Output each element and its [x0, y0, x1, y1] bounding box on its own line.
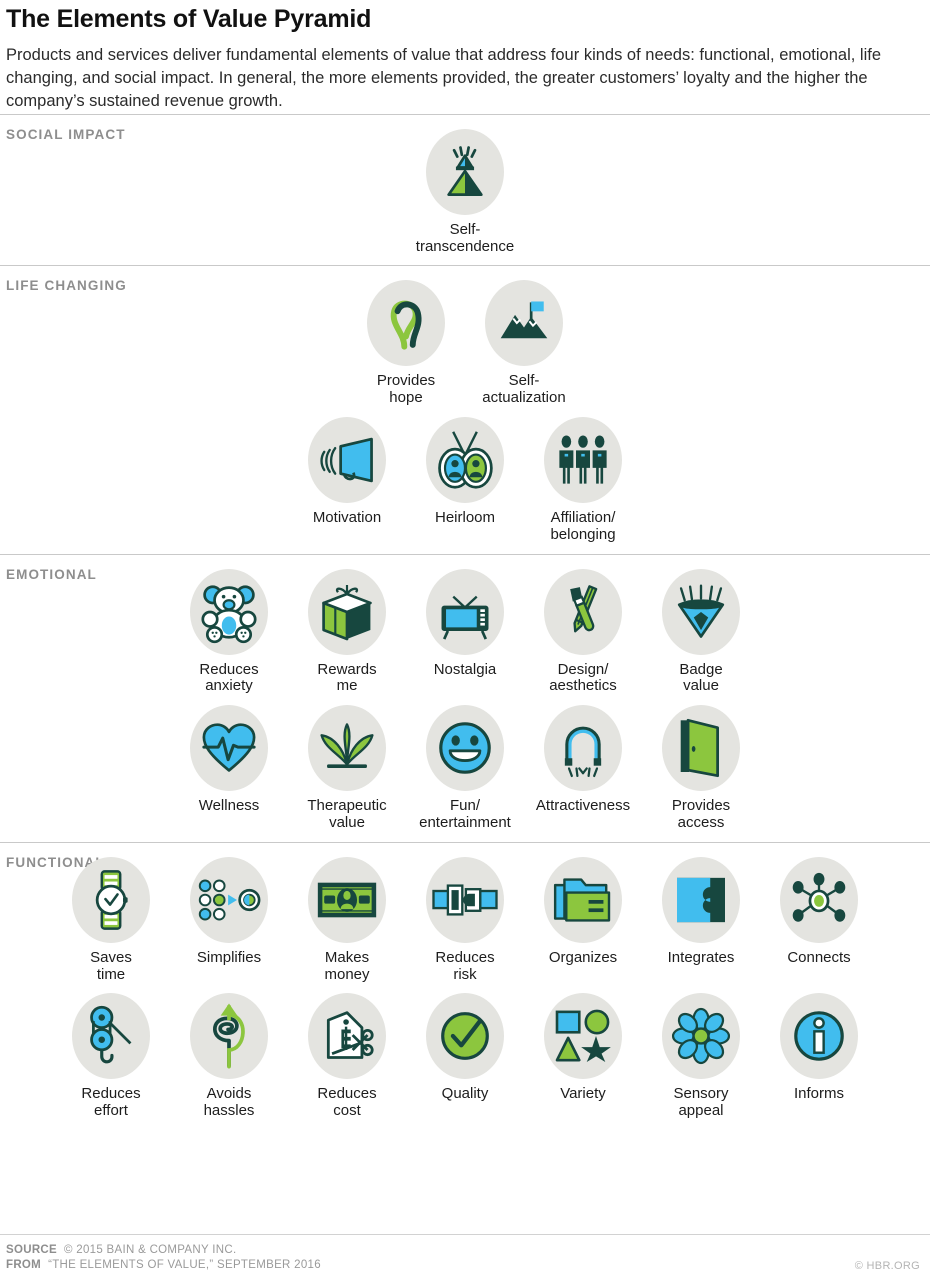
value-element-organizes[interactable]: Organizes	[524, 851, 642, 971]
folders-icon	[544, 857, 622, 943]
value-element-saves-time[interactable]: Saves time	[52, 851, 170, 988]
section-rows: Saves time Simplifies Makes money Reduce…	[0, 843, 930, 1130]
element-label: Provides hope	[377, 373, 435, 407]
section-rows: Self- transcendence	[0, 115, 930, 266]
section-functional: FUNCTIONAL Saves time Simplifies Makes m…	[0, 842, 930, 1130]
element-label: Affiliation/ belonging	[550, 510, 615, 544]
element-label: Nostalgia	[434, 662, 497, 679]
element-label: Self- transcendence	[416, 222, 514, 256]
value-element-avoids-hassles[interactable]: Avoids hassles	[170, 987, 288, 1124]
element-label: Reduces risk	[435, 950, 494, 984]
section-label: SOCIAL IMPACT	[6, 127, 126, 142]
element-label: Attractiveness	[536, 798, 630, 815]
people-group-icon	[544, 417, 622, 503]
value-element-informs[interactable]: Informs	[760, 987, 878, 1107]
element-label: Reduces cost	[317, 1086, 376, 1120]
footer-source-value: © 2015 BAIN & COMPANY INC.	[64, 1243, 236, 1259]
section-rows: Provides hope Self- actualization Motiva…	[0, 266, 930, 553]
badge-icon	[662, 569, 740, 655]
element-label: Self- actualization	[482, 373, 565, 407]
infographic-page: The Elements of Value Pyramid Products a…	[0, 0, 930, 1280]
element-label: Informs	[794, 1086, 844, 1103]
value-element-integrates[interactable]: Integrates	[642, 851, 760, 971]
value-element-provides-hope[interactable]: Provides hope	[347, 274, 465, 411]
value-element-reduces-effort[interactable]: Reduces effort	[52, 987, 170, 1124]
element-label: Badge value	[679, 662, 722, 696]
heart-pulse-icon	[190, 705, 268, 791]
puzzle-c-icon	[662, 857, 740, 943]
element-label: Reduces anxiety	[199, 662, 258, 696]
value-element-badge-value[interactable]: Badge value	[642, 563, 760, 700]
footer-from-value: “THE ELEMENTS OF VALUE,” SEPTEMBER 2016	[48, 1258, 321, 1274]
section-emotional: EMOTIONAL Reduces anxiety Rewards me Nos…	[0, 554, 930, 842]
footer: SOURCE © 2015 BAIN & COMPANY INC. FROM “…	[0, 1234, 930, 1274]
footer-from-line: FROM “THE ELEMENTS OF VALUE,” SEPTEMBER …	[6, 1258, 922, 1274]
value-element-quality[interactable]: Quality	[406, 987, 524, 1107]
element-row: Saves time Simplifies Makes money Reduce…	[0, 851, 930, 988]
element-label: Reduces effort	[81, 1086, 140, 1120]
element-label: Motivation	[313, 510, 381, 527]
element-row: Provides hope Self- actualization	[0, 274, 930, 411]
element-row: Self- transcendence	[0, 123, 930, 260]
check-circle-icon	[426, 993, 504, 1079]
element-label: Avoids hassles	[204, 1086, 255, 1120]
element-row: Reduces effort Avoids hassles Reduces co…	[0, 987, 930, 1124]
element-label: Makes money	[324, 950, 369, 984]
section-rows: Reduces anxiety Rewards me Nostalgia Des…	[0, 555, 930, 842]
element-label: Wellness	[199, 798, 260, 815]
seatbelt-icon	[426, 857, 504, 943]
element-label: Provides access	[672, 798, 730, 832]
element-row: Reduces anxiety Rewards me Nostalgia Des…	[0, 563, 930, 700]
teddy-bear-icon	[190, 569, 268, 655]
price-tag-scissors-icon	[308, 993, 386, 1079]
value-element-sensory-appeal[interactable]: Sensory appeal	[642, 987, 760, 1124]
footer-source-line: SOURCE © 2015 BAIN & COMPANY INC.	[6, 1243, 922, 1259]
retro-tv-icon	[426, 569, 504, 655]
element-label: Therapeutic value	[307, 798, 386, 832]
pyramid-icon	[426, 129, 504, 215]
megaphone-icon	[308, 417, 386, 503]
footer-from-key: FROM	[6, 1258, 41, 1274]
value-element-rewards-me[interactable]: Rewards me	[288, 563, 406, 700]
element-label: Connects	[787, 950, 850, 967]
value-element-variety[interactable]: Variety	[524, 987, 642, 1107]
open-door-icon	[662, 705, 740, 791]
tangle-arrow-icon	[190, 993, 268, 1079]
element-label: Saves time	[90, 950, 132, 984]
dots-to-circle-icon	[190, 857, 268, 943]
value-element-motivation[interactable]: Motivation	[288, 411, 406, 531]
footer-credit: © HBR.ORG	[855, 1260, 920, 1272]
value-element-design-aesthetics[interactable]: Design/ aesthetics	[524, 563, 642, 700]
element-row: Motivation Heirloom Affiliation/ belongi…	[0, 411, 930, 548]
flower-icon	[662, 993, 740, 1079]
element-label: Variety	[560, 1086, 606, 1103]
smiley-face-icon	[426, 705, 504, 791]
element-label: Sensory appeal	[673, 1086, 728, 1120]
info-circle-icon	[780, 993, 858, 1079]
value-element-reduces-cost[interactable]: Reduces cost	[288, 987, 406, 1124]
value-element-therapeutic-value[interactable]: Therapeutic value	[288, 699, 406, 836]
magnet-icon	[544, 705, 622, 791]
sections-container: SOCIAL IMPACT Self- transcendenceLIFE CH…	[0, 114, 930, 1130]
page-subtitle: Products and services deliver fundamenta…	[6, 44, 886, 114]
value-element-simplifies[interactable]: Simplifies	[170, 851, 288, 971]
page-title: The Elements of Value Pyramid	[6, 6, 920, 34]
value-element-makes-money[interactable]: Makes money	[288, 851, 406, 988]
value-element-self-actualization[interactable]: Self- actualization	[465, 274, 583, 411]
footer-source-key: SOURCE	[6, 1243, 57, 1259]
network-nodes-icon	[780, 857, 858, 943]
value-element-heirloom[interactable]: Heirloom	[406, 411, 524, 531]
value-element-affiliation-belonging[interactable]: Affiliation/ belonging	[524, 411, 642, 548]
element-label: Heirloom	[435, 510, 495, 527]
value-element-reduces-risk[interactable]: Reduces risk	[406, 851, 524, 988]
element-label: Organizes	[549, 950, 617, 967]
element-label: Integrates	[668, 950, 735, 967]
value-element-wellness[interactable]: Wellness	[170, 699, 288, 819]
section-label: EMOTIONAL	[6, 567, 97, 582]
value-element-nostalgia[interactable]: Nostalgia	[406, 563, 524, 683]
value-element-self-transcendence[interactable]: Self- transcendence	[406, 123, 524, 260]
gift-box-icon	[308, 569, 386, 655]
wristwatch-icon	[72, 857, 150, 943]
value-element-fun-entertainment[interactable]: Fun/ entertainment	[406, 699, 524, 836]
shapes-icon	[544, 993, 622, 1079]
pulley-hook-icon	[72, 993, 150, 1079]
value-element-connects[interactable]: Connects	[760, 851, 878, 971]
value-element-provides-access[interactable]: Provides access	[642, 699, 760, 836]
element-label: Simplifies	[197, 950, 261, 967]
locket-icon	[426, 417, 504, 503]
mountain-flag-icon	[485, 280, 563, 366]
element-label: Fun/ entertainment	[419, 798, 511, 832]
ribbon-icon	[367, 280, 445, 366]
plant-leaves-icon	[308, 705, 386, 791]
value-element-reduces-anxiety[interactable]: Reduces anxiety	[170, 563, 288, 700]
banknote-icon	[308, 857, 386, 943]
element-label: Quality	[442, 1086, 489, 1103]
element-row: Wellness Therapeutic value Fun/ entertai…	[0, 699, 930, 836]
section-social-impact: SOCIAL IMPACT Self- transcendence	[0, 114, 930, 266]
element-label: Rewards me	[317, 662, 376, 696]
section-life-changing: LIFE CHANGING Provides hope Self- actual…	[0, 265, 930, 553]
element-label: Design/ aesthetics	[549, 662, 617, 696]
section-label: LIFE CHANGING	[6, 278, 127, 293]
value-element-attractiveness[interactable]: Attractiveness	[524, 699, 642, 819]
pencil-brush-icon	[544, 569, 622, 655]
header: The Elements of Value Pyramid Products a…	[0, 0, 930, 114]
